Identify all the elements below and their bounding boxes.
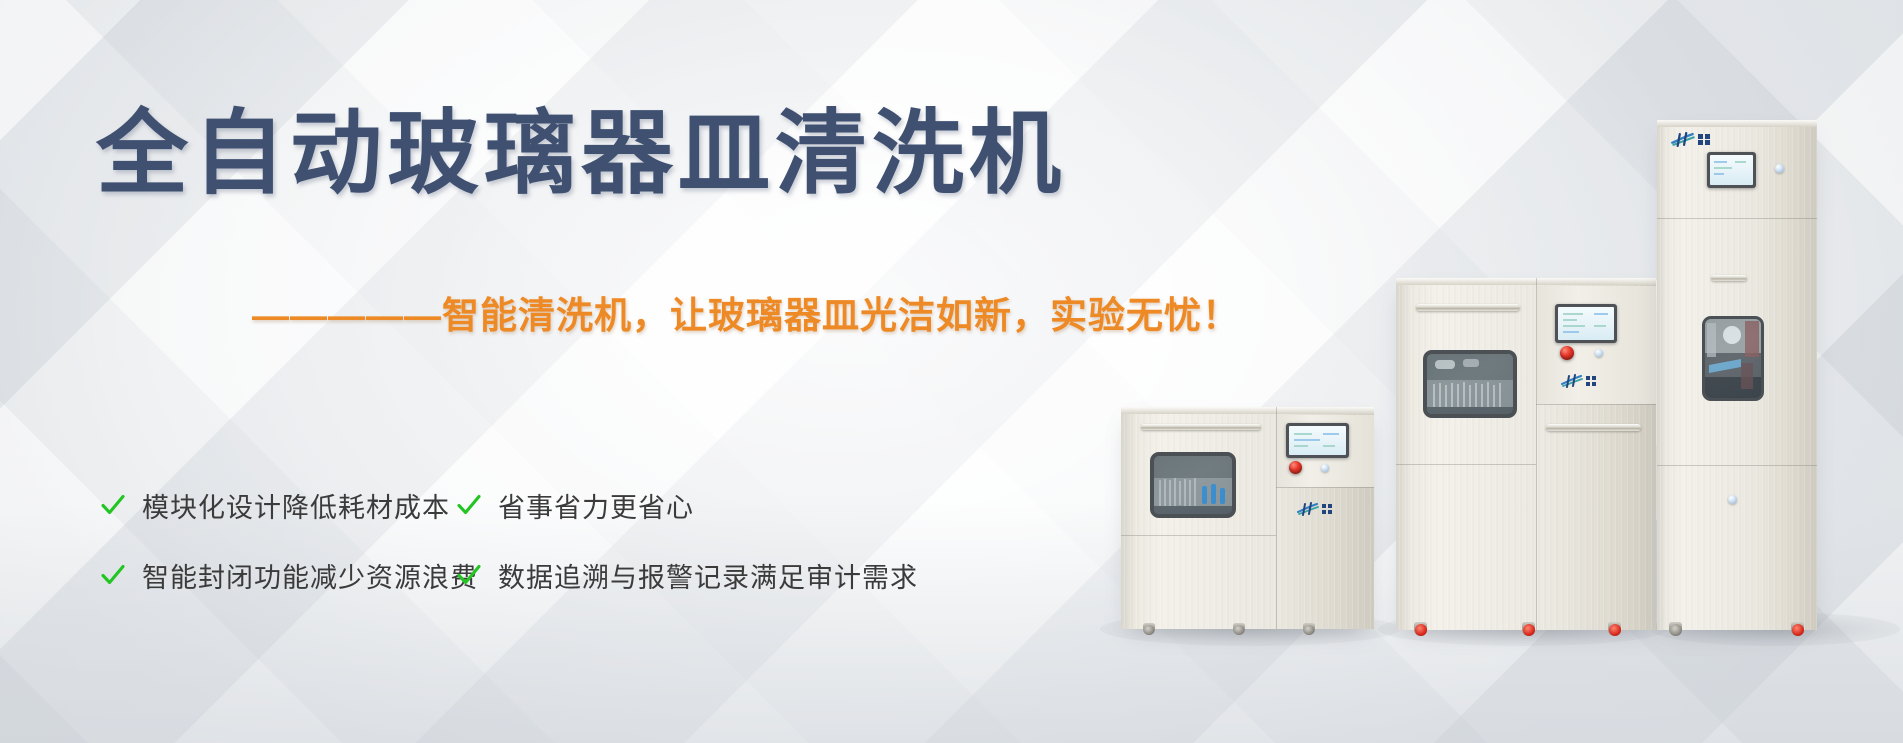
power-button[interactable] xyxy=(1595,349,1603,357)
chamber-window xyxy=(1150,452,1236,518)
feature-label: 模块化设计降低耗材成本 xyxy=(142,486,450,525)
product-image-tall-column-washer[interactable] xyxy=(1657,120,1817,630)
brand-logo xyxy=(1297,502,1332,516)
caster-wheel xyxy=(1608,622,1621,636)
caster-wheel xyxy=(1791,622,1804,636)
caster-wheel xyxy=(1669,622,1682,636)
feature-item: 数据追溯与报警记录满足审计需求 xyxy=(456,540,918,610)
feature-label: 数据追溯与报警记录满足审计需求 xyxy=(498,556,918,595)
feature-item: 省事省力更省心 xyxy=(456,470,918,540)
machine-top-cap xyxy=(1121,407,1374,414)
check-icon xyxy=(100,492,126,518)
brand-logo xyxy=(1671,132,1710,147)
caster-wheel xyxy=(1233,623,1245,635)
brand-mark-grid xyxy=(1322,504,1332,514)
chamber-window xyxy=(1423,350,1517,418)
check-icon xyxy=(100,562,126,588)
door-handle[interactable] xyxy=(1711,275,1747,281)
brand-swoosh-icon xyxy=(1561,374,1583,388)
control-panel[interactable] xyxy=(1277,415,1374,487)
feature-item: 智能封闭功能减少资源浪费 xyxy=(100,540,456,610)
brand-swoosh-icon xyxy=(1297,502,1319,516)
check-icon xyxy=(456,562,482,588)
brand-mark-grid xyxy=(1586,376,1596,386)
emergency-stop-button[interactable] xyxy=(1289,461,1302,474)
feature-label: 智能封闭功能减少资源浪费 xyxy=(142,556,478,595)
control-panel[interactable] xyxy=(1537,286,1656,404)
touchscreen-display[interactable] xyxy=(1286,423,1349,458)
product-image-freestanding-washer[interactable] xyxy=(1396,278,1656,630)
glassware-inside-icon xyxy=(1705,319,1761,398)
machine-top-cap xyxy=(1396,278,1656,285)
machine-seam xyxy=(1121,535,1276,536)
machine-seam xyxy=(1276,487,1374,488)
hero-banner: 全自动玻璃器皿清洗机 —————智能清洗机，让玻璃器皿光洁如新，实验无忧！ 模块… xyxy=(0,0,1903,743)
product-image-undercounter-washer[interactable] xyxy=(1121,407,1374,629)
machine-top-cap xyxy=(1657,120,1817,127)
chamber-window xyxy=(1702,316,1764,401)
banner-headline: 全自动玻璃器皿清洗机 xyxy=(96,108,1066,200)
banner-subheadline: —————智能清洗机，让玻璃器皿光洁如新，实验无忧！ xyxy=(252,297,1240,334)
door-handle[interactable] xyxy=(1416,304,1520,311)
brand-swoosh-icon xyxy=(1671,132,1695,147)
caster-wheel xyxy=(1303,623,1315,635)
feature-item: 模块化设计降低耗材成本 xyxy=(100,470,456,540)
caster-wheel xyxy=(1522,622,1535,636)
feature-list: 模块化设计降低耗材成本 省事省力更省心 智能封闭功能减少资源浪费 数据追溯与报警… xyxy=(100,470,918,610)
door-handle[interactable] xyxy=(1141,424,1261,430)
machine-seam xyxy=(1396,464,1536,465)
power-button[interactable] xyxy=(1775,164,1784,173)
caster-wheel xyxy=(1143,623,1155,635)
check-icon xyxy=(456,492,482,518)
lower-door-latch[interactable] xyxy=(1728,495,1737,504)
emergency-stop-button[interactable] xyxy=(1560,346,1574,360)
power-button[interactable] xyxy=(1321,464,1329,472)
glassware-inside-icon xyxy=(1154,456,1232,514)
caster-wheel xyxy=(1414,622,1427,636)
feature-label: 省事省力更省心 xyxy=(498,486,694,525)
lower-drawer-handle[interactable] xyxy=(1546,424,1641,431)
brand-mark-grid xyxy=(1698,134,1710,146)
screen-content xyxy=(1289,426,1346,455)
machine-seam xyxy=(1536,404,1656,405)
machine-seam xyxy=(1657,465,1817,466)
glassware-inside-icon xyxy=(1427,354,1513,414)
brand-logo xyxy=(1561,374,1596,388)
screen-content xyxy=(1558,307,1614,340)
banner-copy: 全自动玻璃器皿清洗机 —————智能清洗机，让玻璃器皿光洁如新，实验无忧！ 模块… xyxy=(0,0,1150,743)
touchscreen-display[interactable] xyxy=(1707,152,1756,188)
touchscreen-display[interactable] xyxy=(1555,304,1617,343)
screen-content xyxy=(1710,155,1753,185)
machine-seam xyxy=(1657,218,1817,219)
